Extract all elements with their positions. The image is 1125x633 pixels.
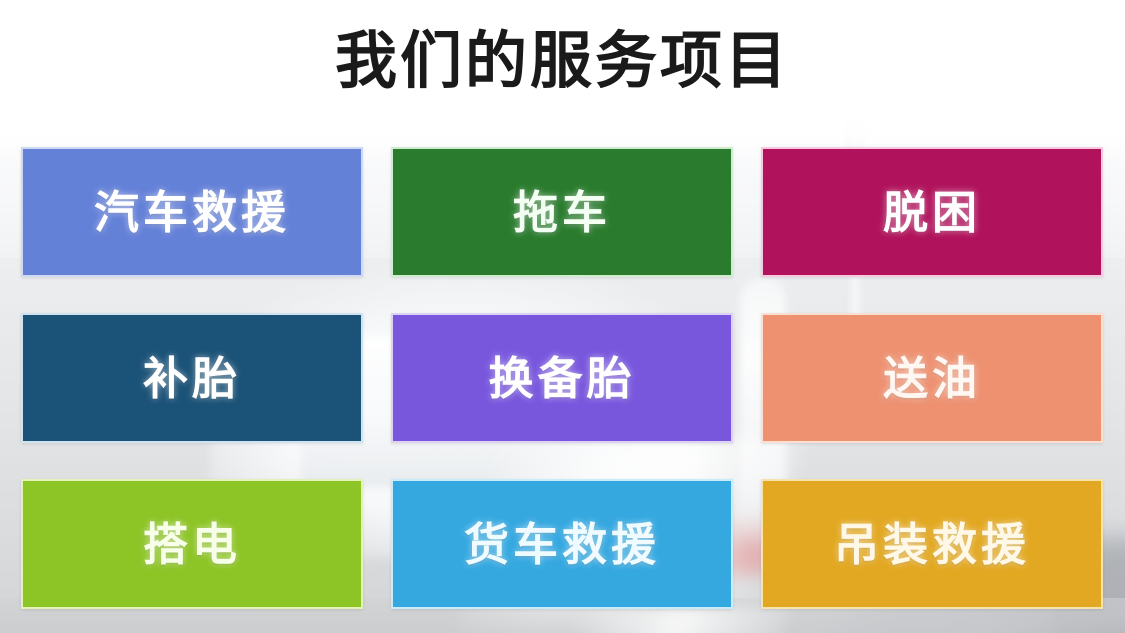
service-tile-9[interactable]: 吊装救援 bbox=[761, 479, 1103, 609]
page-title: 我们的服务项目 bbox=[335, 31, 790, 93]
service-tile-5[interactable]: 换备胎 bbox=[391, 313, 733, 443]
service-tile-8[interactable]: 货车救援 bbox=[391, 479, 733, 609]
service-tile-label: 汽车救援 bbox=[94, 190, 290, 235]
service-grid: 汽车救援 拖车 脱困 补胎 换备胎 送油 搭电 货车救援 吊装救援 bbox=[21, 147, 1103, 609]
service-tile-label: 吊装救援 bbox=[834, 522, 1030, 567]
service-tile-label: 补胎 bbox=[143, 356, 241, 401]
service-tile-6[interactable]: 送油 bbox=[761, 313, 1103, 443]
service-tile-1[interactable]: 汽车救援 bbox=[21, 147, 363, 277]
service-tile-label: 换备胎 bbox=[488, 356, 635, 401]
service-tile-2[interactable]: 拖车 bbox=[391, 147, 733, 277]
service-tile-3[interactable]: 脱困 bbox=[761, 147, 1103, 277]
page-header: 我们的服务项目 bbox=[0, 0, 1125, 118]
service-tile-4[interactable]: 补胎 bbox=[21, 313, 363, 443]
service-tile-label: 送油 bbox=[883, 356, 981, 401]
service-tile-7[interactable]: 搭电 bbox=[21, 479, 363, 609]
service-board: 我们的服务项目 汽车救援 拖车 脱困 补胎 换备胎 送油 搭电 货车救援 吊装救… bbox=[0, 0, 1125, 633]
service-tile-label: 拖车 bbox=[513, 190, 611, 235]
service-tile-label: 货车救援 bbox=[464, 522, 660, 567]
service-tile-label: 脱困 bbox=[883, 190, 981, 235]
service-tile-label: 搭电 bbox=[143, 522, 241, 567]
